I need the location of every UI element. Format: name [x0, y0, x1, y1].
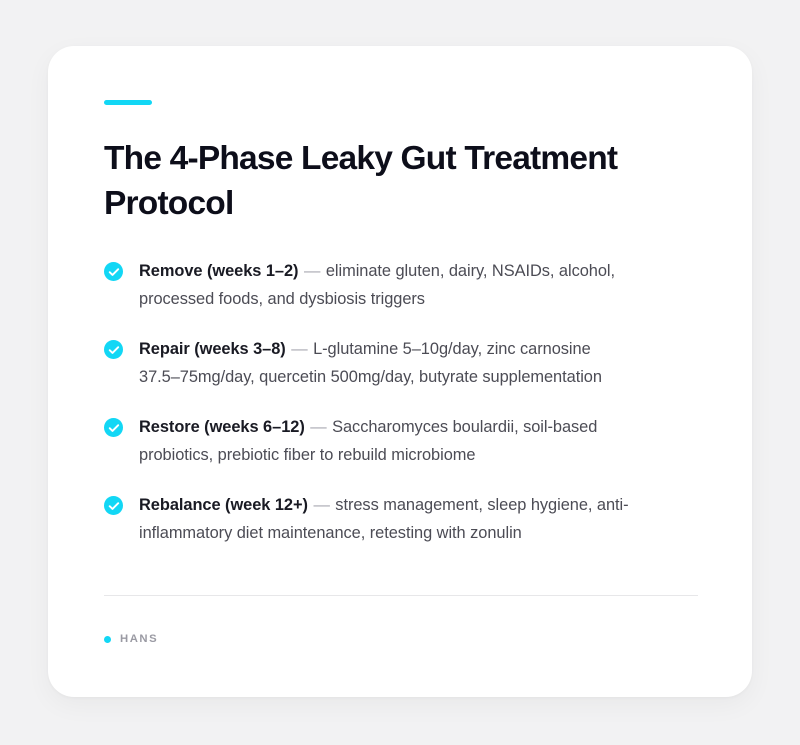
check-circle-icon — [104, 262, 123, 281]
card-footer: HANS — [104, 633, 696, 645]
check-circle-icon — [104, 418, 123, 437]
check-circle-icon — [104, 340, 123, 359]
page-title: The 4-Phase Leaky Gut Treatment Protocol — [104, 136, 684, 226]
list-item: Restore (weeks 6–12) — Saccharomyces bou… — [104, 414, 629, 469]
accent-rule — [104, 100, 152, 105]
list-item-label: Remove (weeks 1–2) — [139, 262, 298, 280]
list-item-label: Repair (weeks 3–8) — [139, 340, 286, 358]
brand-label: HANS — [120, 633, 158, 645]
list-item-dash: — — [309, 418, 327, 436]
list-item-dash: — — [312, 496, 330, 514]
card-content: The 4-Phase Leaky Gut Treatment Protocol… — [104, 100, 696, 645]
list-item: Rebalance (week 12+) — stress management… — [104, 492, 629, 547]
list-item: Repair (weeks 3–8) — L-glutamine 5–10g/d… — [104, 336, 629, 391]
list-item-dash: — — [290, 340, 308, 358]
footer-divider — [104, 595, 698, 596]
list-item-label: Restore (weeks 6–12) — [139, 418, 305, 436]
page-canvas: The 4-Phase Leaky Gut Treatment Protocol… — [0, 0, 800, 745]
check-circle-icon — [104, 496, 123, 515]
list-item-dash: — — [303, 262, 321, 280]
protocol-checklist: Remove (weeks 1–2) — eliminate gluten, d… — [104, 258, 696, 547]
list-item-label: Rebalance (week 12+) — [139, 496, 308, 514]
protocol-card: The 4-Phase Leaky Gut Treatment Protocol… — [48, 46, 752, 697]
list-item: Remove (weeks 1–2) — eliminate gluten, d… — [104, 258, 629, 313]
bullet-dot-icon — [104, 636, 111, 643]
